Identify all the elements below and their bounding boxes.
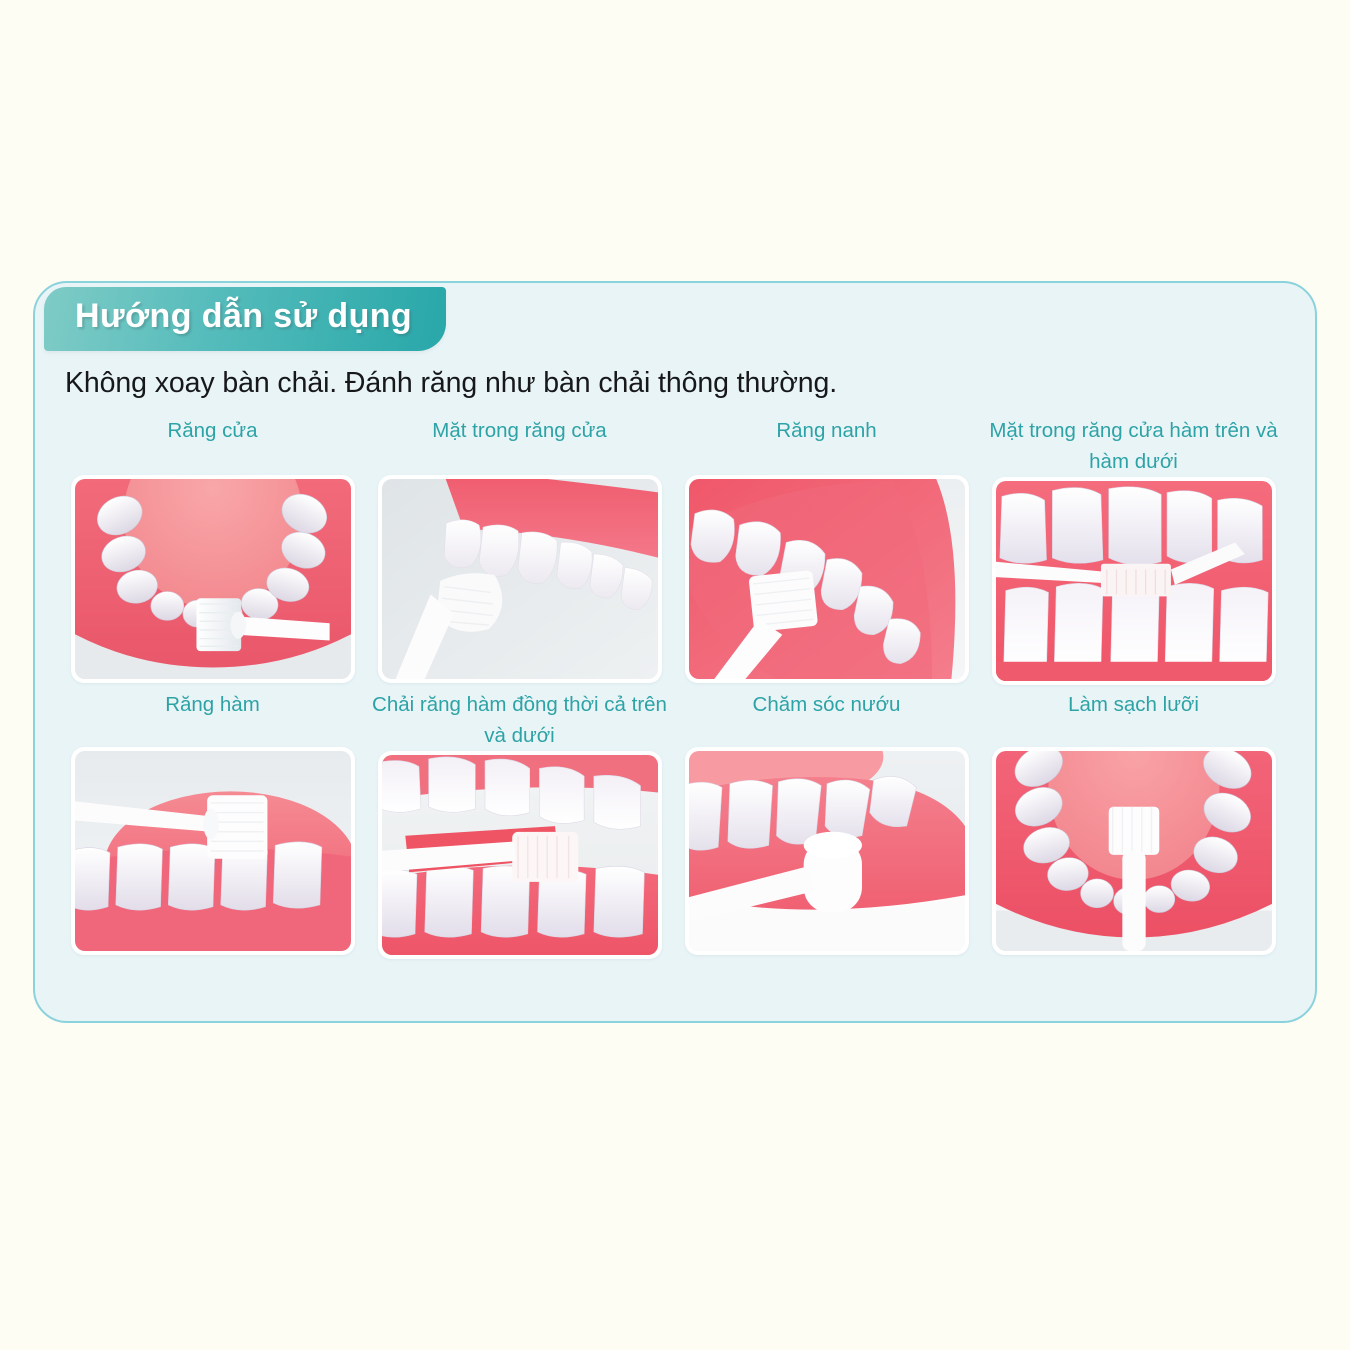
step-card-1: Răng cửa [59,413,366,685]
step-card-3: Răng nanh [673,413,980,685]
step-photo-frame-3 [685,475,969,683]
step-card-7: Chăm sóc nướu [673,685,980,959]
step-card-6: Chải răng hàm đồng thời cả trên và dưới [366,685,673,959]
gum-care-brushing-photo [689,751,965,951]
tongue-cleaning-photo [996,751,1272,951]
steps-grid: Răng cửa [59,413,1299,959]
molar-teeth-brushing-photo [75,751,351,951]
section-badge: Hướng dẫn sử dụng [44,287,446,351]
step-photo-frame-8 [992,747,1276,955]
step-photo-frame-4 [992,477,1276,685]
step-label-8: Làm sạch lưỡi [984,685,1284,747]
step-label-4: Mặt trong răng cửa hàm trên và hàm dưới [984,413,1284,477]
step-label-1: Răng cửa [63,413,363,475]
step-label-7: Chăm sóc nướu [677,685,977,747]
step-label-5: Răng hàm [63,685,363,747]
section-badge-label: Hướng dẫn sử dụng [75,299,412,335]
step-label-6: Chải răng hàm đồng thời cả trên và dưới [370,685,670,751]
step-label-3: Răng nanh [677,413,977,475]
step-photo-frame-6 [378,751,662,959]
step-label-2: Mặt trong răng cửa [370,413,670,475]
lower-front-teeth-brushing-photo [75,479,351,679]
step-photo-frame-7 [685,747,969,955]
usage-subtitle: Không xoay bàn chải. Đánh răng như bàn c… [65,367,837,400]
step-card-8: Làm sạch lưỡi [980,685,1287,959]
step-card-2: Mặt trong răng cửa [366,413,673,685]
step-photo-frame-5 [71,747,355,955]
inner-front-teeth-brushing-photo [382,479,658,679]
step-card-5: Răng hàm [59,685,366,959]
usage-guide-card: Hướng dẫn sử dụng Không xoay bàn chải. Đ… [33,281,1317,1023]
step-photo-frame-1 [71,475,355,683]
simultaneous-upper-lower-molar-photo [382,755,658,955]
canine-teeth-brushing-photo [689,479,965,679]
upper-lower-inner-front-teeth-photo [996,481,1272,681]
page-root: Hướng dẫn sử dụng Không xoay bàn chải. Đ… [0,0,1350,1350]
step-photo-frame-2 [378,475,662,683]
step-card-4: Mặt trong răng cửa hàm trên và hàm dưới [980,413,1287,685]
